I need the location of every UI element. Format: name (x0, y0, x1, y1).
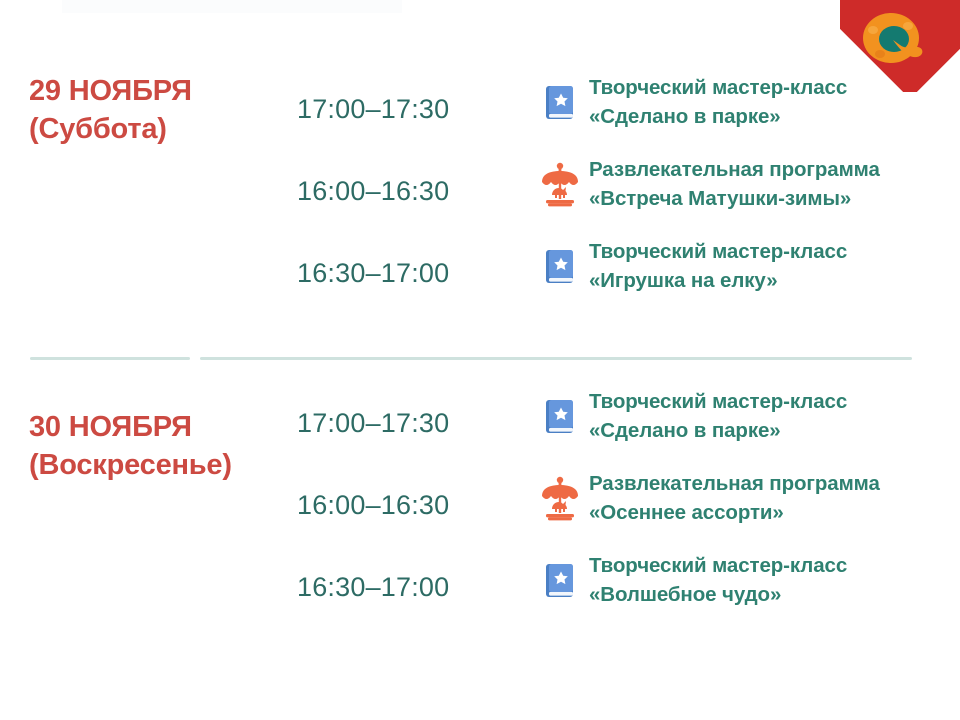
slot-title-line1: Творческий мастер-класс (589, 73, 949, 102)
park-q-logo-icon (858, 10, 932, 72)
slot-title-line2: «Игрушка на елку» (589, 266, 949, 295)
slot-title: Творческий мастер-класс «Сделано в парке… (589, 387, 949, 445)
slot-title: Развлекательная программа «Встреча Матуш… (589, 155, 949, 213)
schedule-row[interactable]: 16:30–17:00 Творческий мастер-класс «Вол… (0, 550, 960, 632)
carousel-icon (538, 162, 582, 208)
book-icon (538, 558, 582, 604)
slot-title-line1: Творческий мастер-класс (589, 237, 949, 266)
slot-title-line1: Развлекательная программа (589, 155, 949, 184)
carousel-icon (538, 476, 582, 522)
section-divider-right (200, 357, 912, 360)
book-icon (538, 244, 582, 290)
slot-title: Творческий мастер-класс «Игрушка на елку… (589, 237, 949, 295)
slot-title-line2: «Осеннее ассорти» (589, 498, 949, 527)
top-edge-strip (62, 0, 402, 13)
schedule-row[interactable]: 17:00–17:30 Творческий мастер-класс «Сде… (0, 386, 960, 468)
slot-time: 16:00–16:30 (297, 176, 497, 207)
slot-time: 16:30–17:00 (297, 258, 497, 289)
slot-title: Творческий мастер-класс «Волшебное чудо» (589, 551, 949, 609)
slot-title-line2: «Сделано в парке» (589, 102, 949, 131)
slot-title-line1: Творческий мастер-класс (589, 387, 949, 416)
schedule-row[interactable]: 16:30–17:00 Творческий мастер-класс «Игр… (0, 236, 960, 318)
schedule-row[interactable]: 17:00–17:30 Творческий мастер-класс «Сде… (0, 72, 960, 154)
schedule-row[interactable]: 16:00–16:30 Развлекательная программа «В… (0, 154, 960, 236)
slot-title-line2: «Сделано в парке» (589, 416, 949, 445)
slot-title: Развлекательная программа «Осеннее ассор… (589, 469, 949, 527)
slot-title-line1: Развлекательная программа (589, 469, 949, 498)
book-icon (538, 394, 582, 440)
slot-time: 17:00–17:30 (297, 408, 497, 439)
slot-title-line1: Творческий мастер-класс (589, 551, 949, 580)
slot-title-line2: «Встреча Матушки-зимы» (589, 184, 949, 213)
book-icon (538, 80, 582, 126)
section-divider-left (30, 357, 190, 360)
slot-title: Творческий мастер-класс «Сделано в парке… (589, 73, 949, 131)
slot-time: 17:00–17:30 (297, 94, 497, 125)
schedule-row[interactable]: 16:00–16:30 Развлекательная программа «О… (0, 468, 960, 550)
slot-title-line2: «Волшебное чудо» (589, 580, 949, 609)
slot-time: 16:30–17:00 (297, 572, 497, 603)
schedule-poster: 29 НОЯБРЯ (Суббота) 16:00–16:30 Развлека… (0, 0, 960, 720)
slot-time: 16:00–16:30 (297, 490, 497, 521)
